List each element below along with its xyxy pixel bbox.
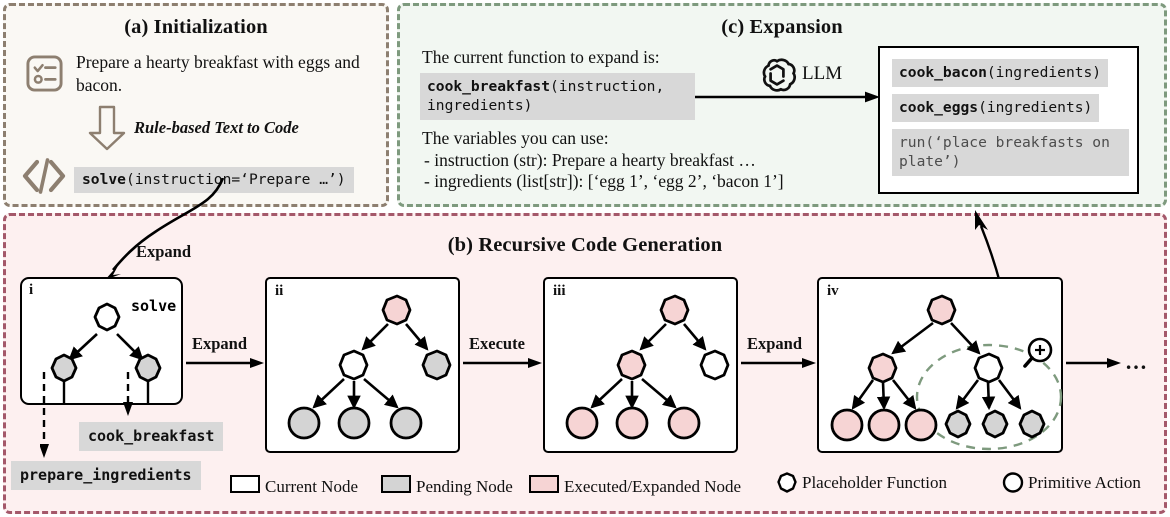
tree-i-index: i — [29, 282, 33, 299]
rule-based-label: Rule-based Text to Code — [134, 118, 299, 138]
legend-item-executed: Executed/Expanded Node — [529, 475, 741, 497]
tree-ii[interactable]: ii — [265, 277, 460, 453]
variable-instruction: - instruction (str): Prepare a hearty br… — [424, 150, 756, 171]
variables-label: The variables you can use: — [422, 128, 609, 149]
legend-item-primitive: Primitive Action — [1002, 472, 1141, 494]
output-0-fn: cook_bacon — [899, 64, 987, 81]
checklist-icon — [25, 54, 64, 93]
task-text: Prepare a hearty breakfast with eggs and… — [76, 51, 368, 97]
tree-iv[interactable]: iv — [817, 277, 1063, 453]
llm-label: LLM — [802, 63, 842, 85]
llm-arrow — [695, 88, 880, 106]
octagon-icon — [776, 472, 798, 494]
tree-ii-index: ii — [275, 283, 283, 300]
arrow-iv-to-more — [1066, 356, 1121, 370]
current-function-label: The current function to expand is: — [422, 47, 660, 68]
legend-swatch-pending — [381, 475, 411, 493]
output-line-0: cook_bacon(ingredients) — [892, 59, 1108, 87]
legend-item-current: Current Node — [230, 475, 358, 497]
down-arrow-icon — [86, 105, 128, 151]
tree-iv-index: iv — [827, 283, 839, 300]
expand-init-label: Expand — [136, 242, 191, 262]
legend-label-executed: Executed/Expanded Node — [564, 477, 741, 496]
panel-a-title: (a) Initialization — [6, 16, 386, 39]
llm-output-box: cook_bacon(ingredients) cook_eggs(ingred… — [878, 46, 1139, 194]
panel-c-title: (c) Expansion — [400, 16, 1164, 39]
panel-initialization: (a) Initialization Prepare a hearty brea… — [3, 3, 389, 207]
tree-iv-graph — [819, 279, 1065, 455]
circle-icon — [1002, 472, 1024, 494]
output-1-args: (ingredients) — [978, 99, 1092, 116]
variable-ingredients: - ingredients (list[str]): [‘egg 1’, ‘eg… — [424, 171, 784, 192]
expand-label-1: Expand — [192, 334, 247, 354]
output-1-fn: cook_eggs — [899, 99, 978, 116]
arrow-ii-to-iii — [463, 356, 542, 370]
execute-label: Execute — [469, 334, 525, 354]
output-line-2: run(‘place breakfasts on plate’) — [892, 129, 1129, 176]
legend-item-pending: Pending Node — [381, 475, 513, 497]
output-line-1: cook_eggs(ingredients) — [892, 94, 1099, 122]
callout-prepare-ingredients: prepare_ingredients — [11, 461, 201, 490]
legend-swatch-executed — [529, 475, 559, 493]
init-to-tree-arrow — [95, 178, 245, 282]
legend-item-placeholder: Placeholder Function — [776, 472, 947, 494]
legend-label-placeholder: Placeholder Function — [802, 473, 947, 492]
tree-iii-index: iii — [553, 283, 566, 300]
current-fn-name: cook_breakfast — [427, 78, 550, 95]
continuation-ellipsis: … — [1125, 349, 1149, 375]
output-0-args: (ingredients) — [987, 64, 1101, 81]
tree-iii[interactable]: iii — [543, 277, 738, 453]
expand-label-2: Expand — [747, 334, 802, 354]
code-brackets-icon — [22, 156, 66, 196]
arrow-i-to-ii — [186, 356, 264, 370]
current-function-box: cook_breakfast(instruction, ingredients) — [420, 73, 695, 120]
magnifier-plus-icon — [1025, 339, 1051, 366]
legend-label-pending: Pending Node — [416, 477, 513, 496]
legend: Current Node Pending Node Executed/Expan… — [230, 472, 1160, 502]
legend-label-current: Current Node — [265, 477, 358, 496]
arrow-iii-to-iv — [741, 356, 816, 370]
legend-label-primitive: Primitive Action — [1028, 473, 1141, 492]
tree-ii-graph — [267, 279, 462, 455]
tree-iii-graph — [545, 279, 740, 455]
tree-i-root-label: solve — [131, 297, 176, 315]
legend-swatch-current — [230, 475, 260, 493]
figure-root: (a) Initialization Prepare a hearty brea… — [0, 0, 1170, 517]
callout-cook-breakfast: cook_breakfast — [79, 422, 223, 451]
